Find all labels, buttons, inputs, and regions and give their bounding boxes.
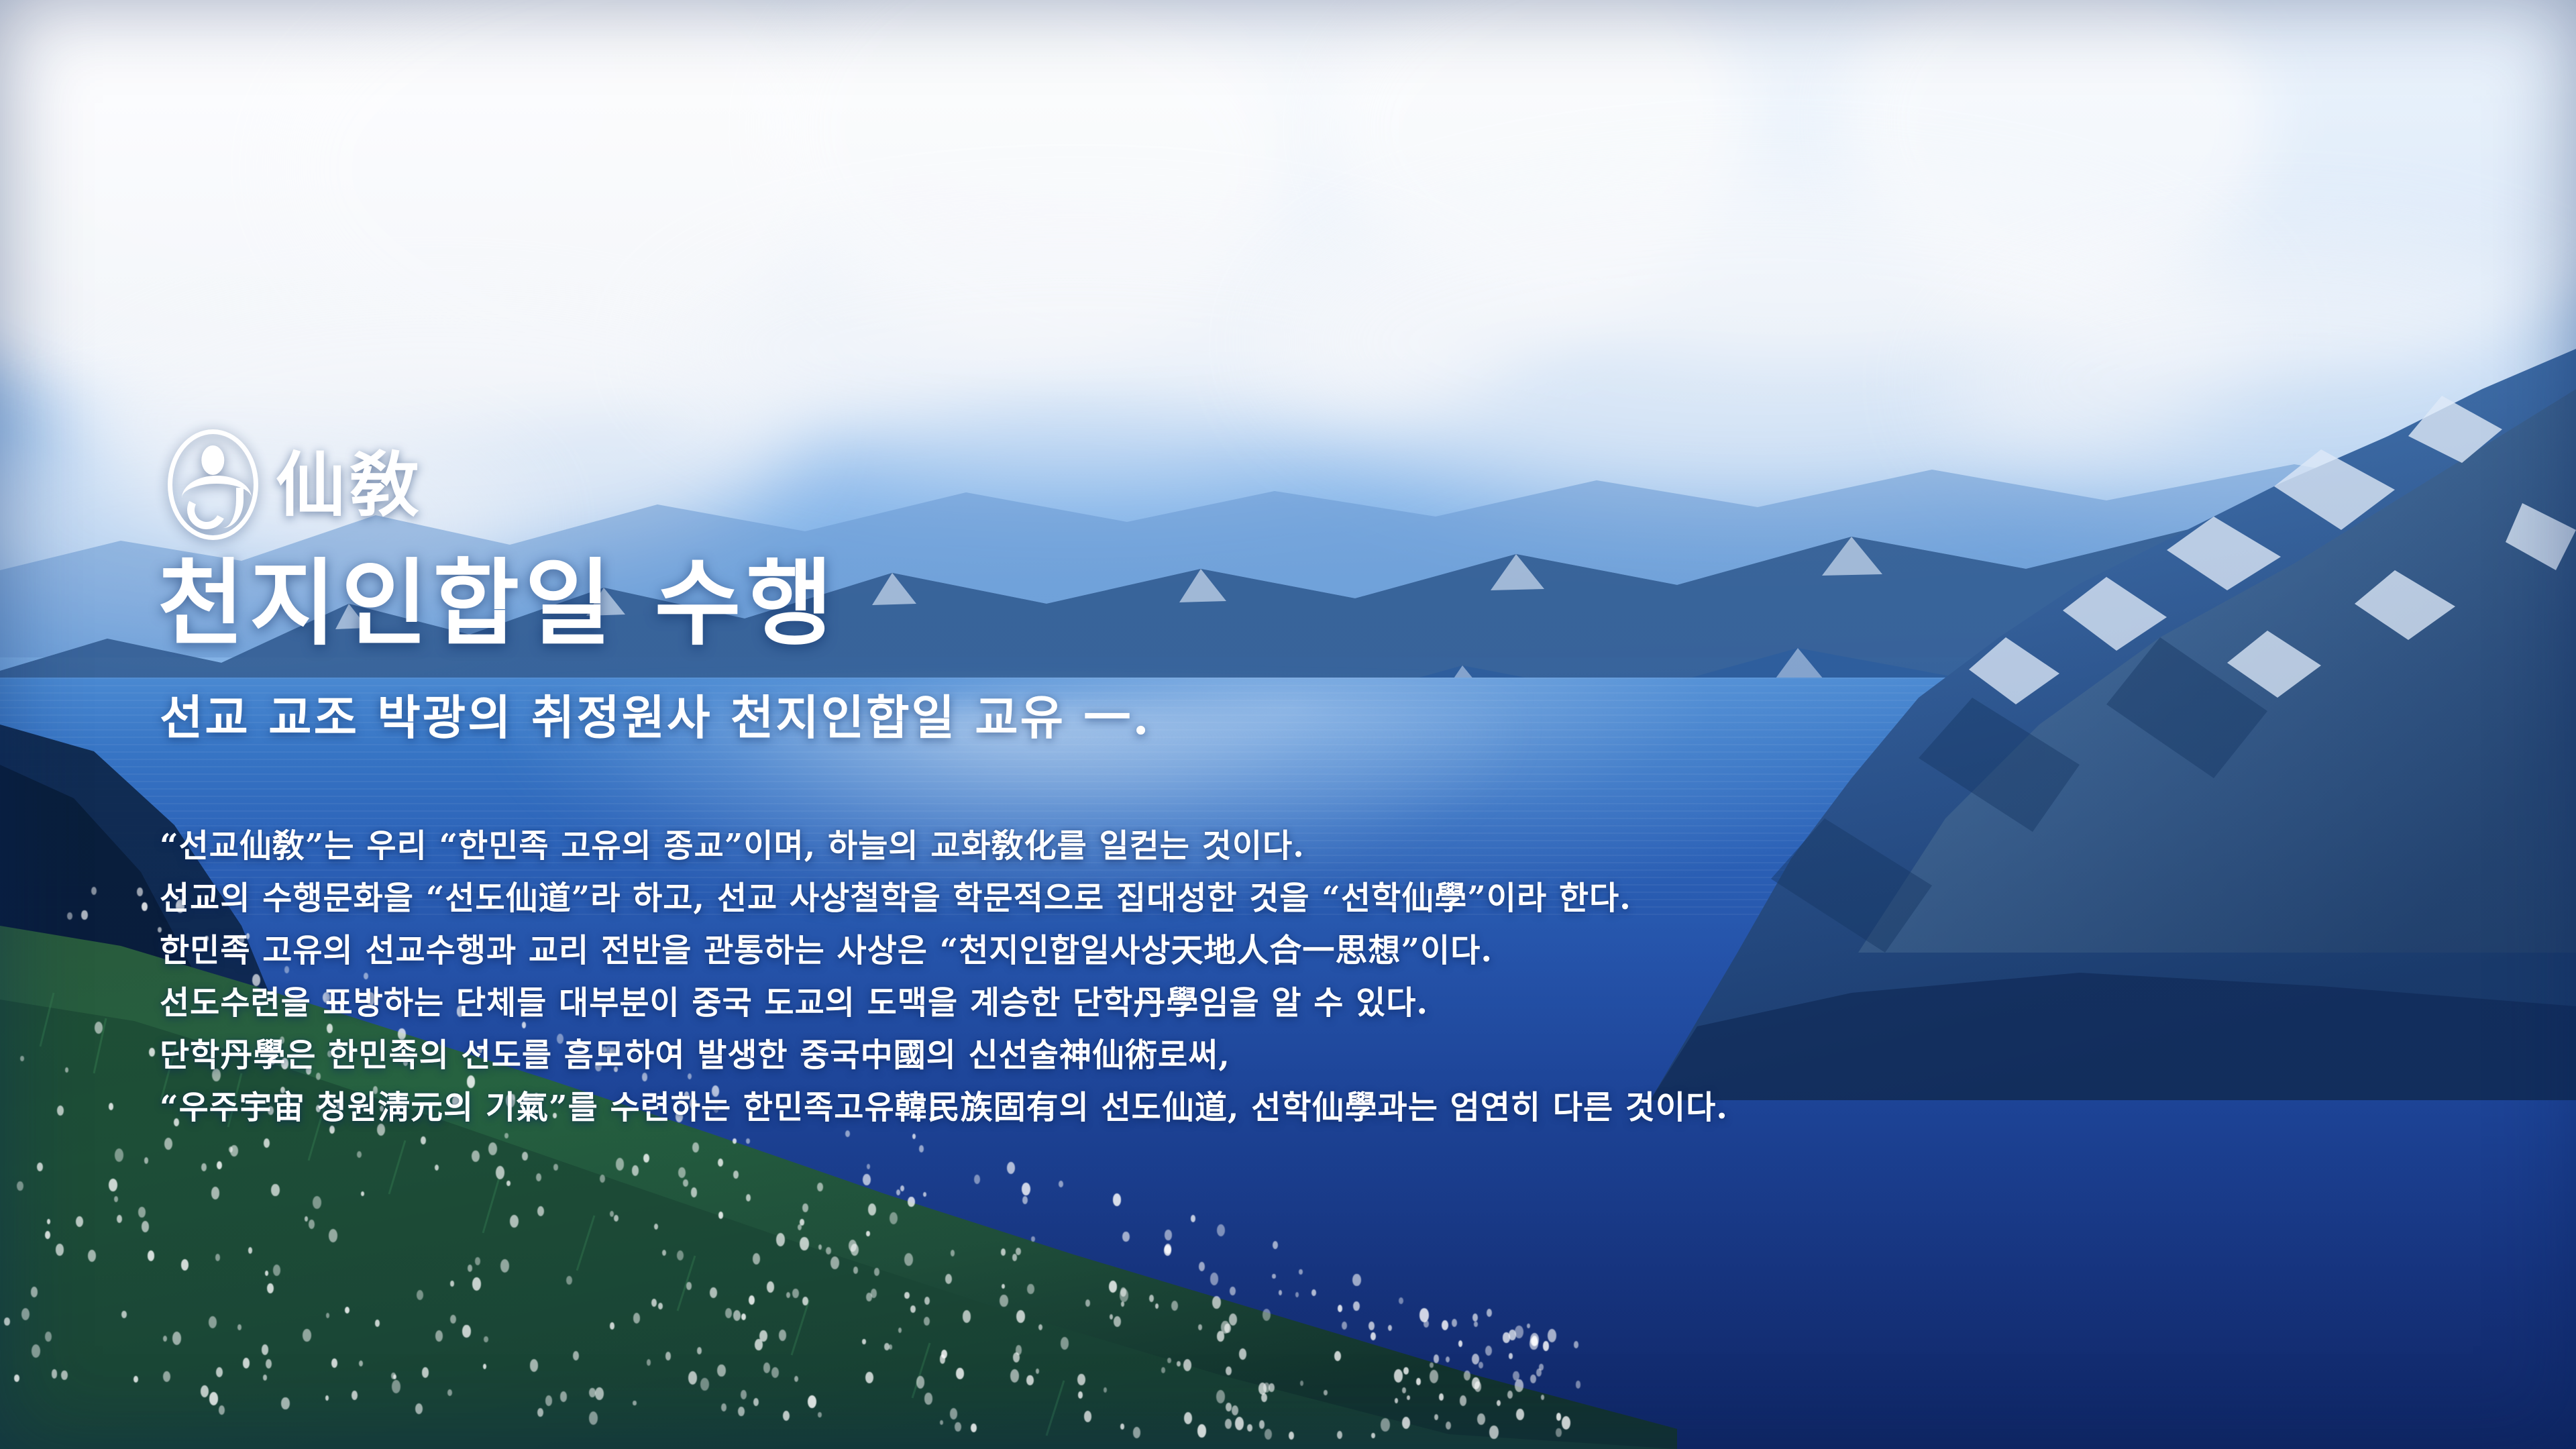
body-line: 선교의 수행문화을 “선도仙道”라 하고, 선교 사상철학을 학문적으로 집대성… [160,872,2172,924]
brand-name: 仙敎 [276,450,423,520]
body-line: 단학丹學은 한민족의 선도를 흠모하여 발생한 중국中國의 신선술神仙術로써, [160,1029,2172,1081]
body-line: 선도수련을 표방하는 단체들 대부분이 중국 도교의 도맥을 계승한 단학丹學임… [160,977,2172,1029]
page-subtitle: 선교 교조 박광의 취정원사 천지인합일 교유 一. [160,694,1151,741]
poster-root: 仙敎 천지인합일 수행 선교 교조 박광의 취정원사 천지인합일 교유 一. “… [0,0,2576,1449]
body-line: “우주宇宙 청원淸元의 기氣”를 수련하는 한민족고유韓民族固有의 선도仙道, … [160,1081,2172,1134]
meditating-figure-in-circle-icon [168,429,258,540]
body-text-block: “선교仙敎”는 우리 “한민족 고유의 종교”이며, 하늘의 교화敎化를 일컫는… [160,820,2172,1134]
body-line: 한민족 고유의 선교수행과 교리 전반을 관통하는 사상은 “천지인합일사상天地… [160,924,2172,977]
body-line: “선교仙敎”는 우리 “한민족 고유의 종교”이며, 하늘의 교화敎化를 일컫는… [160,820,2172,872]
page-title: 천지인합일 수행 [158,557,838,651]
brand-lockup: 仙敎 [168,429,423,540]
text-overlay: 仙敎 천지인합일 수행 선교 교조 박광의 취정원사 천지인합일 교유 一. “… [0,0,2576,1449]
